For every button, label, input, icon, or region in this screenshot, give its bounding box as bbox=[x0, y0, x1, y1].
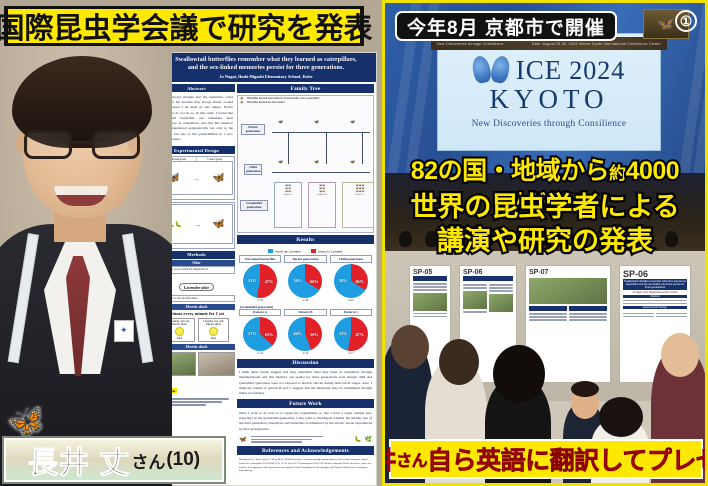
logo-ice: ICE bbox=[516, 55, 563, 86]
pie-value-red: 53% bbox=[248, 278, 256, 283]
glasses-bridge bbox=[72, 141, 92, 144]
pie-subtext: n=17 bbox=[330, 352, 372, 355]
pie-chart-patternA: Pattern A 37% 63% n=19 bbox=[239, 309, 281, 356]
bottom-caption-c: 自ら英語に翻訳してプレゼン bbox=[427, 441, 708, 477]
poster-future-text: What I want to do next is to repeat my e… bbox=[237, 410, 374, 433]
overlay-2-text: 世界の昆虫学者による bbox=[410, 192, 679, 222]
poster-label-sp07: SP-07 bbox=[529, 269, 607, 276]
pie-caption: Pattern C bbox=[330, 309, 372, 316]
poster-section-family-tree: Family Tree bbox=[237, 84, 374, 93]
attendee-1-head bbox=[391, 325, 429, 369]
pie-value-blue: 66% bbox=[355, 279, 363, 284]
name-caption: 長井 丈 さん (10) bbox=[4, 438, 224, 482]
poster-section-references: References and Acknowledgements bbox=[237, 446, 374, 455]
caterpillar-icon: 🐛 bbox=[354, 436, 361, 443]
pie-value-red: 34% bbox=[339, 278, 347, 283]
results-block: Avoid the Lavender Attract to Lavender U… bbox=[237, 245, 374, 358]
logo-kyoto: KYOTO bbox=[490, 84, 609, 115]
pie-value-red: 37% bbox=[248, 331, 256, 336]
pie-chart-patternB: Pattern B 44% 56% n=16 bbox=[284, 309, 326, 356]
poster-title-line1: Swallowtail butterflies remember what th… bbox=[160, 56, 372, 64]
bottom-caption-b: さん bbox=[396, 447, 427, 471]
pie-graphic: 37% 63% bbox=[243, 317, 277, 351]
attendee-2-head bbox=[439, 339, 479, 385]
pie-value-red: 53% bbox=[339, 331, 347, 336]
family-patternC-group: 🦋🦋🦋🦋🦋🦋🦋🦋🦋Pattern C bbox=[342, 182, 374, 228]
overlay-line-3: 講演や研究の発表 bbox=[385, 219, 705, 258]
bulb-icon bbox=[209, 327, 218, 336]
family-parent-label: Parent generation bbox=[241, 124, 265, 135]
person-name-suffix: さん bbox=[131, 448, 165, 473]
family-child-label: Child generation bbox=[244, 164, 262, 175]
leaf-icon: 🌿 bbox=[365, 436, 372, 443]
butterfly-icon: 🦋 bbox=[213, 218, 227, 231]
pie-chart-patternC: Pattern C 53% 47% n=17 bbox=[330, 309, 372, 356]
pie-graphic: 44% 56% bbox=[288, 317, 322, 351]
pie-subtext: n=28 bbox=[284, 299, 326, 302]
legend-avoid-label: Avoid the Lavender bbox=[275, 249, 300, 253]
family-tree-diagram: 🦋 Butterflies that had been trained to a… bbox=[237, 95, 374, 233]
ice-logo: ICE 2024 bbox=[473, 55, 626, 86]
butterfly-icon: 🦋 bbox=[350, 120, 355, 124]
student-photo: 🦋 bbox=[0, 20, 172, 486]
logo-year: 2024 bbox=[569, 56, 625, 86]
legend-attract-label: Attract to Lavender bbox=[318, 249, 343, 253]
overlay-1b: 約 bbox=[609, 164, 626, 183]
shock-cell-2-label: Lavender odor only Electric shock bbox=[200, 320, 227, 326]
headline-text: 国際昆虫学会議で研究を発表 bbox=[0, 5, 373, 47]
lens-right bbox=[92, 130, 140, 159]
legend-attract: Attract to Lavender bbox=[311, 249, 343, 254]
butterfly-icon: 🦋 bbox=[240, 97, 243, 100]
butterfly-icon: 🦋 bbox=[240, 101, 243, 104]
poster-label-sp05: SP-05 bbox=[413, 269, 447, 276]
pie-value-blue: 47% bbox=[355, 332, 363, 337]
bottom-caption-a: 長井 bbox=[382, 441, 396, 477]
pie-value-blue: 47% bbox=[265, 279, 273, 284]
screenshot-root: Swallowtail butterflies remember what th… bbox=[0, 0, 708, 486]
family-patternA-label: Pattern A bbox=[284, 193, 293, 196]
poster-section-discussion: Discussion bbox=[237, 359, 374, 368]
pie-subtext: n=16 bbox=[284, 352, 326, 355]
pie-value-red: 44% bbox=[293, 331, 301, 336]
person-age: (10) bbox=[166, 449, 200, 471]
sp06-section-abstract: Abstract bbox=[623, 295, 687, 298]
pie-caption: Untrained butterflies bbox=[239, 255, 281, 262]
family-patternB-group: 🦋🦋🦋🦋🦋🦋Pattern B bbox=[308, 182, 336, 228]
presentation-screen: ICE 2024 KYOTO New Discoveries through C… bbox=[437, 33, 661, 151]
butterfly-icon: 🦋 bbox=[350, 160, 355, 164]
results-legend: Avoid the Lavender Attract to Lavender bbox=[239, 249, 372, 254]
pie-value-blue: 56% bbox=[310, 332, 318, 337]
family-patternA-group: 🦋🦋🦋🦋🦋🦋Pattern A bbox=[274, 182, 302, 228]
family-grandchild-label: Grandchild generation bbox=[240, 200, 268, 211]
banner-details: Date: August 25-30, 2024 Venue: Kyoto In… bbox=[532, 42, 661, 46]
pie-caption: Child generation bbox=[330, 255, 372, 262]
teeth bbox=[54, 186, 108, 195]
family-legend-1: Butterflies that had been trained to avo… bbox=[247, 97, 319, 100]
poster-discussion-text: I think these results suggest that they … bbox=[237, 369, 374, 397]
arrow-icon: → bbox=[194, 220, 202, 229]
arrow-icon: → bbox=[192, 174, 200, 183]
butterfly-logo-icon bbox=[473, 56, 509, 86]
legend-avoid: Avoid the Lavender bbox=[268, 249, 300, 254]
left-panel: Swallowtail butterflies remember what th… bbox=[0, 0, 382, 486]
right-panel: ICE 2024 KYOTO New Discoveries through C… bbox=[382, 0, 708, 486]
logo-tagline: New Discoveries through Consilience bbox=[472, 119, 627, 129]
pie-graphic: 34% 66% bbox=[288, 264, 322, 298]
lens-left bbox=[24, 130, 72, 159]
headline-banner: 国際昆虫学会議で研究を発表 bbox=[6, 6, 362, 46]
glasses-icon bbox=[24, 130, 140, 160]
shock-cell-2-foot: 5mA bbox=[200, 337, 227, 340]
pie-value-red: 34% bbox=[293, 278, 301, 283]
pie-subtext: n=26 bbox=[330, 299, 372, 302]
butterfly-icon: 🦋 bbox=[278, 160, 283, 164]
poster-section-future-work: Future Work bbox=[237, 399, 374, 408]
poster-section-results: Results bbox=[237, 235, 374, 244]
banner-tagline: New Discoveries through Consilience bbox=[437, 42, 504, 46]
pie-subtext: n=19 bbox=[239, 352, 281, 355]
poster-authors: Jo Nagai, Ibuki Higashi Elementary Schoo… bbox=[156, 74, 376, 82]
attendee-3-head bbox=[493, 345, 545, 403]
pie-chart-child: Child generation 34% 66% n=26 bbox=[330, 255, 372, 302]
pie-value-blue: 63% bbox=[265, 332, 273, 337]
pie-subtext: n=30 bbox=[239, 299, 281, 302]
pie-caption: Pattern B bbox=[284, 309, 326, 316]
butterfly-icon: 🦋 bbox=[314, 160, 319, 164]
person-name: 長井 丈 bbox=[28, 438, 130, 482]
right-header-text: 今年8月 京都市で開催 bbox=[407, 13, 605, 40]
sp06-poster-author: Jo Nagai, Ibuki Higashi Elementary Schoo… bbox=[623, 291, 687, 294]
overlay-1c: 4000 bbox=[626, 157, 680, 185]
student-presenter-hair bbox=[571, 381, 599, 397]
pie-value-blue: 66% bbox=[310, 279, 318, 284]
pie-graphic: 53% 47% bbox=[243, 264, 277, 298]
poster-title-line2: and the sex-linked memories persist for … bbox=[160, 64, 372, 72]
butterfly-icon: 🦋 bbox=[314, 120, 319, 124]
poster-title: Swallowtail butterflies remember what th… bbox=[156, 53, 376, 74]
conference-badge bbox=[114, 320, 134, 342]
family-patternB-label: Pattern B bbox=[318, 193, 327, 196]
overlay-1a: 82の国・地域から bbox=[411, 157, 609, 185]
photo-setup bbox=[198, 352, 236, 376]
pie-graphic: 53% 47% bbox=[334, 317, 368, 351]
shock-cell-2: Lavender odor only Electric shock 5mA bbox=[198, 318, 229, 342]
butterfly-icon: 🦋 bbox=[278, 120, 283, 124]
pie-chart-untrained: Untrained butterflies 53% 47% n=30 bbox=[239, 255, 281, 302]
pie-graphic: 34% 66% bbox=[334, 264, 368, 298]
bottom-caption: 長井さん自ら英語に翻訳してプレゼン bbox=[389, 439, 703, 479]
poster-references-text: Blackiston D.J., Silva Casey E., Weiss M… bbox=[237, 457, 374, 475]
butterfly-icon: 🦋 bbox=[239, 436, 246, 443]
butterfly-icon: 🦋 bbox=[212, 172, 226, 185]
overlay-3-text: 講演や研究の発表 bbox=[437, 226, 653, 256]
future-work-icons: 🦋 🐛 🌿 bbox=[237, 434, 374, 444]
family-patternC-label: Pattern C bbox=[356, 193, 365, 196]
results-pie-row-2: Pattern A 37% 63% n=19 Pattern B bbox=[239, 309, 372, 356]
pie-caption: Pattern A bbox=[239, 309, 281, 316]
bulb-icon bbox=[175, 327, 184, 336]
segment-number-badge: ① bbox=[675, 10, 697, 32]
sp06-section-design: Experimental Design bbox=[623, 306, 687, 309]
lavender-odor-chip: Lavender odor bbox=[179, 283, 214, 291]
research-poster: Swallowtail butterflies remember what th… bbox=[155, 52, 377, 486]
results-pie-row-1: Untrained butterflies 53% 47% n=30 Paren… bbox=[239, 255, 372, 302]
attendee-4-head bbox=[599, 397, 643, 437]
family-legend-2: Butterflies that had not been trained bbox=[247, 101, 284, 104]
right-header-banner: 今年8月 京都市で開催 bbox=[395, 11, 617, 41]
attendee-5-head bbox=[661, 333, 699, 377]
pie-chart-parent: Parent generation 34% 66% n=28 bbox=[284, 255, 326, 302]
sp06-poster-title: Swallowtail butterflies remember what th… bbox=[623, 279, 687, 290]
pie-caption: Parent generation bbox=[284, 255, 326, 262]
poster-label-sp06-b: SP-06 bbox=[623, 269, 687, 279]
poster-label-sp06-a: SP-06 bbox=[463, 269, 513, 276]
